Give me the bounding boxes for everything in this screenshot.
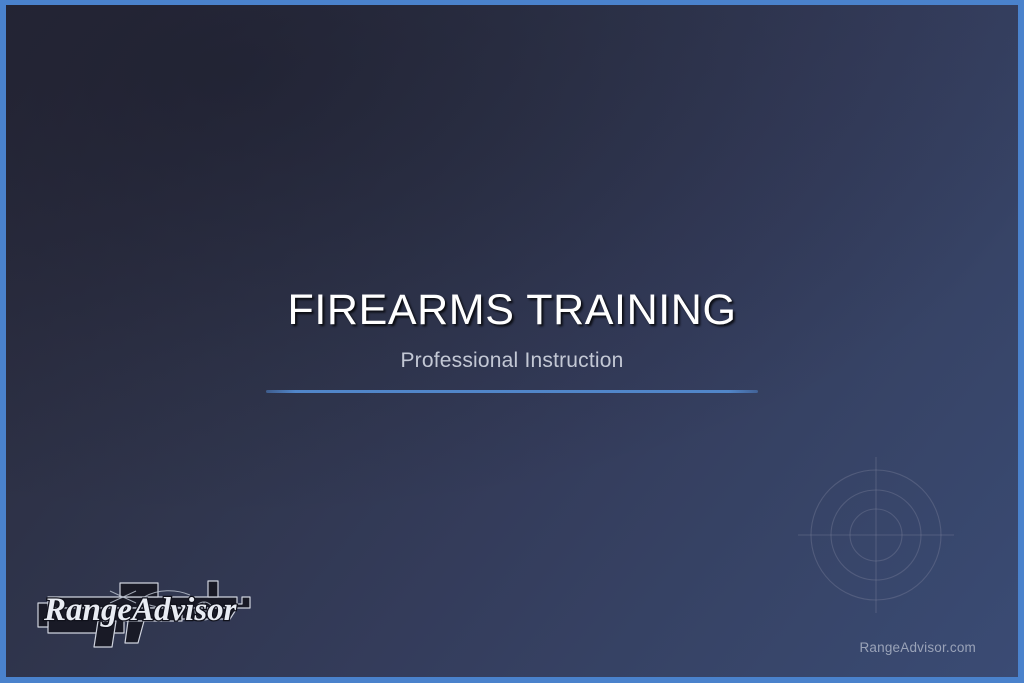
title-slide: FIREARMS TRAINING Professional Instructi…	[0, 0, 1024, 683]
accent-divider	[266, 390, 758, 393]
logo-wordmark: RangeAdvisor	[43, 592, 238, 628]
slide-background: FIREARMS TRAINING Professional Instructi…	[6, 5, 1018, 677]
page-subtitle: Professional Instruction	[6, 349, 1018, 372]
title-block: FIREARMS TRAINING Professional Instructi…	[6, 287, 1018, 393]
brand-logo: RangeAdvisor	[32, 563, 264, 651]
footer-website-url: RangeAdvisor.com	[859, 640, 976, 655]
page-title: FIREARMS TRAINING	[6, 287, 1018, 333]
crosshair-target-icon	[798, 457, 954, 613]
